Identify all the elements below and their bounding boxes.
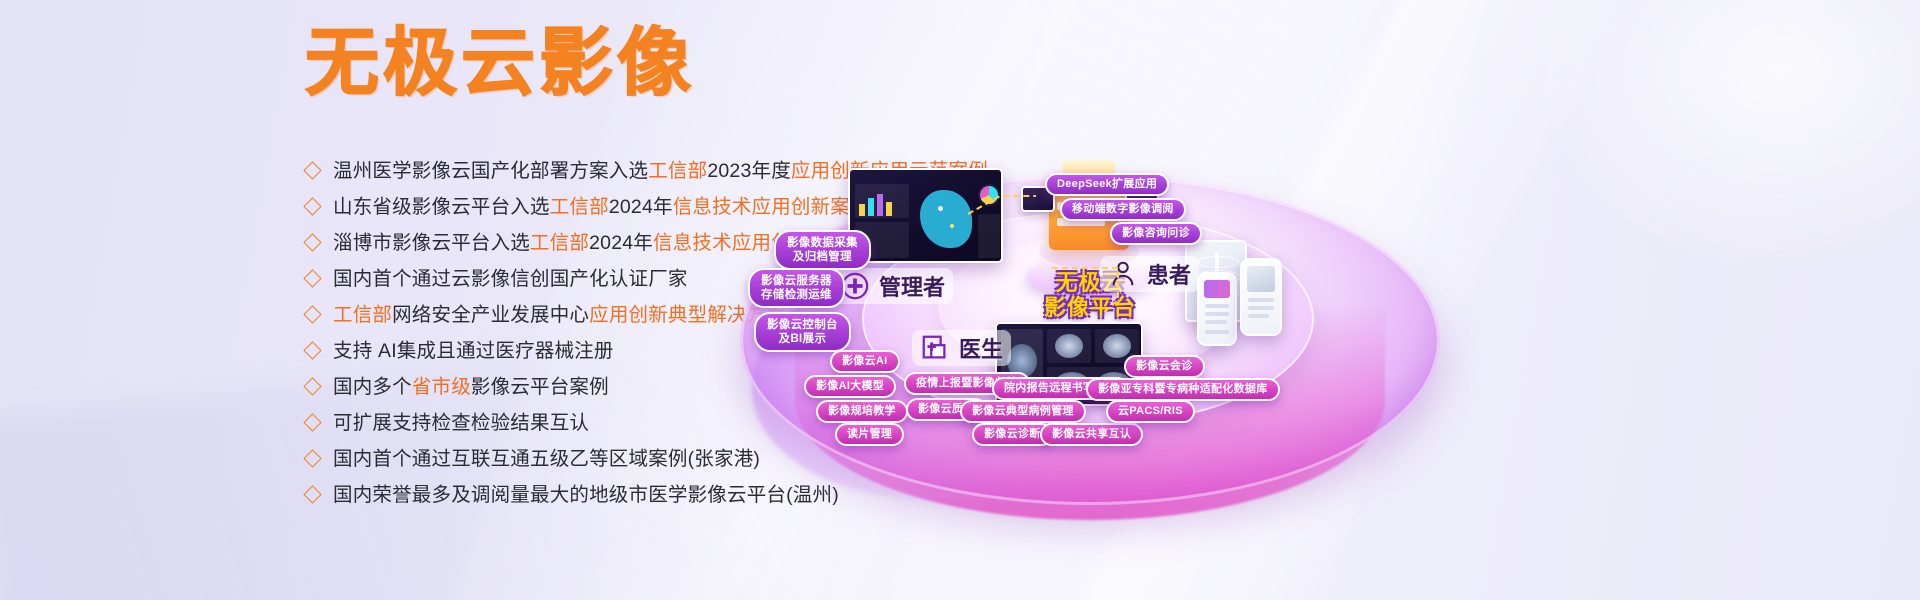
plain-text: 支持 AI集成且通过医疗器械注册 [333, 340, 614, 362]
highlight-text: 省市级 [412, 376, 471, 398]
feature-list-item-text: 可扩展支持检查检验结果互认 [333, 405, 589, 441]
pill-影像AI大模型[interactable]: 影像AI大模型 [804, 375, 896, 398]
pill-影像云典型病例管理[interactable]: 影像云典型病例管理 [960, 400, 1086, 423]
pill-影像云AI[interactable]: 影像云AI [830, 350, 900, 373]
plain-text: 国内首个通过云影像信创国产化认证厂家 [333, 268, 688, 290]
role-doctor-label: 医生 [959, 332, 1003, 364]
banner-stage: 无极云影像 温州医学影像云国产化部署方案入选工信部2023年度应用创新应用示范案… [0, 0, 1920, 600]
pill-影像云共享互认[interactable]: 影像云共享互认 [1040, 423, 1143, 446]
feature-list-item-text: 国内多个省市级影像云平台案例 [333, 369, 609, 405]
diamond-bullet-icon [303, 305, 321, 323]
plain-text: 淄博市影像云平台入选 [333, 232, 530, 254]
highlight-text: 工信部 [648, 160, 707, 182]
role-patient[interactable]: 患者 [1100, 256, 1199, 292]
page-title: 无极云影像 [305, 26, 695, 100]
diamond-bullet-icon [303, 341, 321, 359]
highlight-text: 工信部 [550, 196, 609, 218]
role-admin[interactable]: 管理者 [832, 268, 953, 304]
pill-影像云会诊[interactable]: 影像云会诊 [1124, 355, 1205, 378]
plain-text: 可扩展支持检查检验结果互认 [333, 412, 589, 434]
highlight-text: 工信部 [530, 232, 589, 254]
plain-text: 影像云平台案例 [471, 376, 609, 398]
diamond-bullet-icon [303, 413, 321, 431]
pill-影像云服务器存储检测运维[interactable]: 影像云服务器 存储检测运维 [748, 268, 845, 308]
patient-phone-1 [1197, 272, 1237, 346]
diamond-bullet-icon [303, 377, 321, 395]
pill-影像云控制台及BI展示[interactable]: 影像云控制台 及BI展示 [754, 312, 851, 352]
plain-text: 2024年 [609, 196, 673, 218]
diamond-bullet-icon [303, 485, 321, 503]
diamond-bullet-icon [303, 449, 321, 467]
diamond-bullet-icon [303, 233, 321, 251]
plain-text: 网络安全产业发展中心 [392, 304, 589, 326]
plain-text: 国内多个 [333, 376, 412, 398]
pill-影像亚专科暨专病种适配化数据库[interactable]: 影像亚专科暨专病种适配化数据库 [1086, 378, 1280, 401]
diamond-bullet-icon [303, 269, 321, 287]
highlight-text: 工信部 [333, 304, 392, 326]
person-icon [1108, 259, 1138, 289]
role-doctor[interactable]: 医生 [912, 330, 1011, 366]
plain-text: 山东省级影像云平台入选 [333, 196, 550, 218]
pill-影像咨询问诊[interactable]: 影像咨询问诊 [1110, 222, 1202, 245]
plain-text: 2024年 [589, 232, 653, 254]
pill-DeepSeek扩展应用[interactable]: DeepSeek扩展应用 [1045, 173, 1169, 196]
admin-dashboard-device [848, 168, 1003, 263]
center-label-line2: 影像平台 [1000, 297, 1180, 322]
medical-report-icon [920, 333, 950, 363]
feature-list-item-text: 国内首个通过云影像信创国产化认证厂家 [333, 261, 688, 297]
role-patient-label: 患者 [1147, 258, 1191, 290]
platform-diagram: 无极云 影像平台 [700, 0, 1920, 600]
feature-list-item-text: 支持 AI集成且通过医疗器械注册 [333, 333, 614, 369]
role-admin-label: 管理者 [879, 270, 945, 302]
diamond-bullet-icon [303, 161, 321, 179]
pill-影像规培教学[interactable]: 影像规培教学 [816, 400, 908, 423]
pill-移动端数字影像调阅[interactable]: 移动端数字影像调阅 [1060, 198, 1186, 221]
pill-云PACS-RIS[interactable]: 云PACS/RIS [1106, 400, 1195, 423]
pill-读片管理[interactable]: 读片管理 [835, 423, 904, 446]
plain-text: 温州医学影像云国产化部署方案入选 [333, 160, 648, 182]
feature-list-item-text: 国内首个通过互联互通五级乙等区域案例(张家港) [333, 441, 760, 477]
patient-phone-2 [1240, 258, 1282, 336]
plain-text: 国内首个通过互联互通五级乙等区域案例(张家港) [333, 448, 760, 470]
diamond-bullet-icon [303, 197, 321, 215]
pill-影像数据采集及归档管理[interactable]: 影像数据采集 及归档管理 [774, 230, 871, 270]
